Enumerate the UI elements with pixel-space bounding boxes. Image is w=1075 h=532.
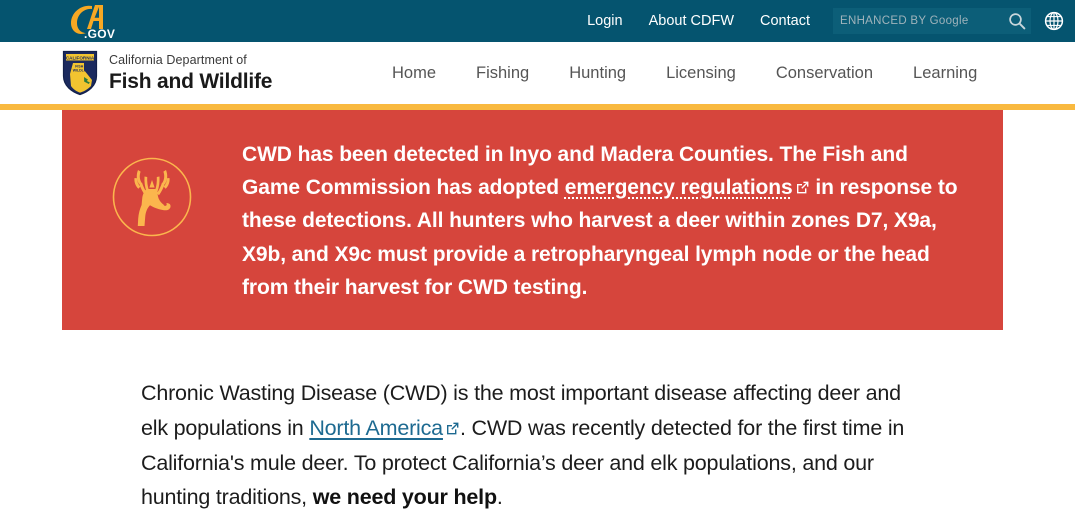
contact-link[interactable]: Contact <box>747 0 823 42</box>
search-input[interactable] <box>833 9 1001 33</box>
alert-icon-cell <box>62 138 242 238</box>
external-link-icon <box>795 172 810 205</box>
svg-text:WILDLIFE: WILDLIFE <box>73 69 90 73</box>
nav-hunting[interactable]: Hunting <box>549 64 646 83</box>
search-box[interactable] <box>833 8 1031 34</box>
nav-licensing[interactable]: Licensing <box>646 64 756 83</box>
nav-conservation[interactable]: Conservation <box>756 64 893 83</box>
globe-icon[interactable] <box>1043 10 1065 32</box>
utility-links: Login About CDFW Contact <box>574 0 1065 42</box>
intro-paragraph: Chronic Wasting Disease (CWD) is the mos… <box>141 376 911 515</box>
search-icon[interactable] <box>1007 11 1027 31</box>
emergency-regulations-link[interactable]: emergency regulations <box>565 176 793 199</box>
login-link[interactable]: Login <box>574 0 635 42</box>
we-need-your-help-text: we need your help <box>313 485 497 509</box>
alert-message: CWD has been detected in Inyo and Madera… <box>242 138 1003 304</box>
main-navigation: Home Fishing Hunting Licensing Conservat… <box>372 64 997 83</box>
cwd-alert-banner: CWD has been detected in Inyo and Madera… <box>62 110 1003 330</box>
brand-line-name: Fish and Wildlife <box>109 71 272 92</box>
north-america-link[interactable]: North America <box>309 416 443 440</box>
external-link-icon <box>445 412 460 447</box>
body-text-part3: . <box>497 485 503 509</box>
svg-text:.GOV: .GOV <box>84 27 115 40</box>
nav-learning[interactable]: Learning <box>893 64 997 83</box>
brand-line-department: California Department of <box>109 54 272 67</box>
brand-text: California Department of Fish and Wildli… <box>109 54 272 92</box>
nav-fishing[interactable]: Fishing <box>456 64 549 83</box>
nav-home[interactable]: Home <box>372 64 456 83</box>
svg-text:CALIFORNIA: CALIFORNIA <box>66 55 95 60</box>
about-cdfw-link[interactable]: About CDFW <box>636 0 747 42</box>
page-content: CWD has been detected in Inyo and Madera… <box>0 110 1075 515</box>
deer-head-icon <box>111 156 193 238</box>
utility-bar: .GOV Login About CDFW Contact <box>0 0 1075 42</box>
cdfw-brand-logo[interactable]: CALIFORNIA FISH & WILDLIFE California De… <box>62 50 272 96</box>
ca-gov-logo[interactable]: .GOV <box>62 2 124 40</box>
site-header: CALIFORNIA FISH & WILDLIFE California De… <box>0 42 1075 104</box>
cdfw-shield-icon: CALIFORNIA FISH & WILDLIFE <box>62 50 98 96</box>
